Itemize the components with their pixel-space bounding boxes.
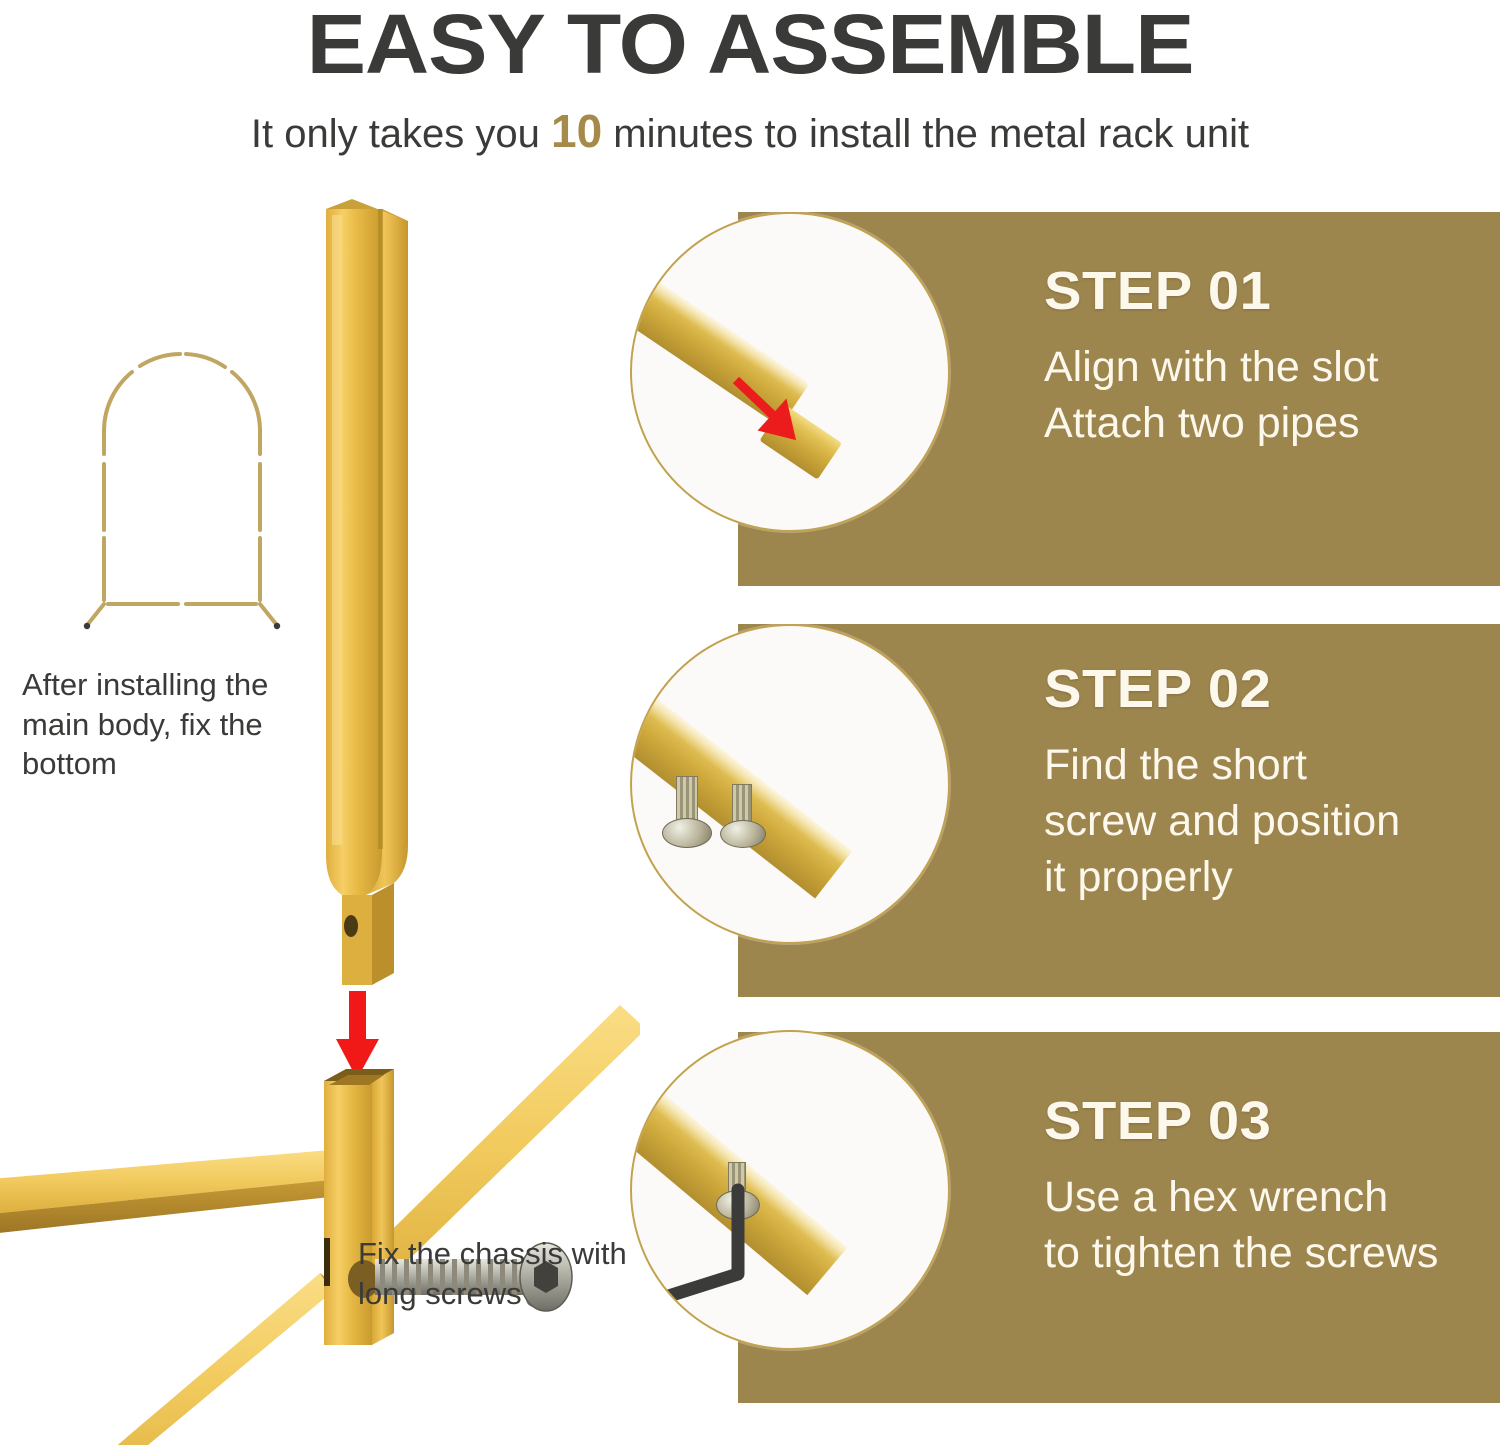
subtitle-minutes-value: 10 (551, 105, 602, 157)
step-panel-3: STEP 03 Use a hex wrench to tighten the … (738, 1032, 1500, 1403)
page-title: EASY TO ASSEMBLE (0, 0, 1500, 93)
chassis-base (0, 1005, 640, 1445)
short-screws-photo (630, 624, 950, 944)
step-3-desc-line2: to tighten the screws (1044, 1226, 1438, 1280)
step-3-text: STEP 03 Use a hex wrench to tighten the … (1044, 1094, 1438, 1280)
step-2-title: STEP 02 (1044, 662, 1414, 716)
step-2-desc-line2: screw and position (1044, 794, 1400, 848)
chassis-caption: Fix the chassis with long screws (358, 1234, 648, 1313)
pipe-alignment-photo (630, 212, 950, 532)
step-2-text: STEP 02 Find the short screw and positio… (1044, 662, 1400, 905)
hex-wrench-photo (630, 1030, 950, 1350)
hex-wrench-icon (642, 1182, 772, 1322)
step-1-desc-line1: Align with the slot (1044, 340, 1379, 394)
step-3-title: STEP 03 (1044, 1094, 1454, 1148)
step-panel-1: STEP 01 Align with the slot Attach two p… (738, 212, 1500, 586)
step-2-desc-line1: Find the short (1044, 738, 1400, 792)
subtitle-text-after: minutes to install the metal rack unit (602, 112, 1249, 156)
subtitle: It only takes you 10 minutes to install … (0, 104, 1500, 158)
header: EASY TO ASSEMBLE It only takes you 10 mi… (0, 0, 1500, 185)
step-1-text: STEP 01 Align with the slot Attach two p… (1044, 264, 1379, 450)
step-panel-2: STEP 02 Find the short screw and positio… (738, 624, 1500, 997)
step-1-title: STEP 01 (1044, 264, 1392, 318)
step-3-desc-line1: Use a hex wrench (1044, 1170, 1438, 1224)
step-1-desc-line2: Attach two pipes (1044, 396, 1379, 450)
step-2-desc-line3: it properly (1044, 850, 1400, 904)
subtitle-text-before: It only takes you (251, 112, 551, 156)
red-arrow-icon (728, 374, 818, 454)
red-down-arrow-icon (336, 991, 379, 1079)
upper-pipe (326, 199, 408, 985)
